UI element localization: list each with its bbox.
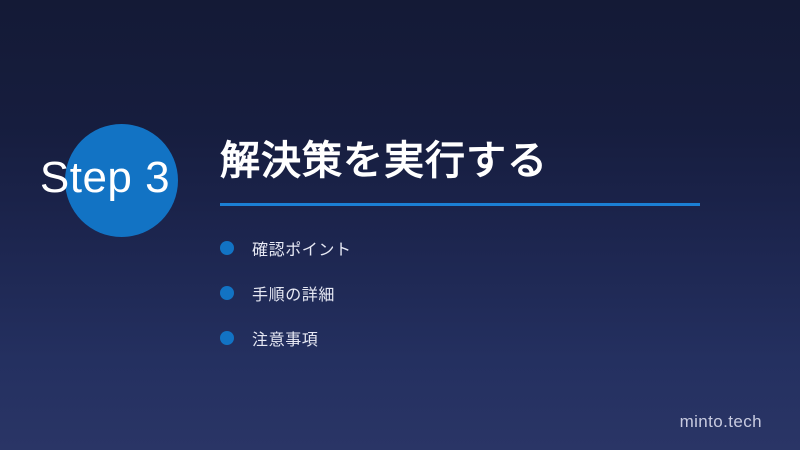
bullet-dot-icon [220,331,234,345]
step-badge: Step 3 [0,118,210,238]
slide-canvas: Step 3 解決策を実行する 確認ポイント 手順の詳細 注意事項 minto.… [0,0,800,450]
step-number-label: Step 3 [0,118,210,238]
bullet-dot-icon [220,241,234,255]
slide-title: 解決策を実行する [220,138,760,184]
title-underline-rule [220,203,700,206]
footer-brand-label: minto.tech [680,412,762,432]
bullet-item-label: 注意事項 [252,326,318,350]
bullet-list: 確認ポイント 手順の詳細 注意事項 [220,234,720,369]
bullet-item-label: 確認ポイント [252,236,352,260]
list-item: 注意事項 [220,324,720,352]
list-item: 手順の詳細 [220,279,720,307]
list-item: 確認ポイント [220,234,720,262]
bullet-dot-icon [220,286,234,300]
bullet-item-label: 手順の詳細 [252,281,335,305]
title-block: 解決策を実行する [220,138,760,206]
